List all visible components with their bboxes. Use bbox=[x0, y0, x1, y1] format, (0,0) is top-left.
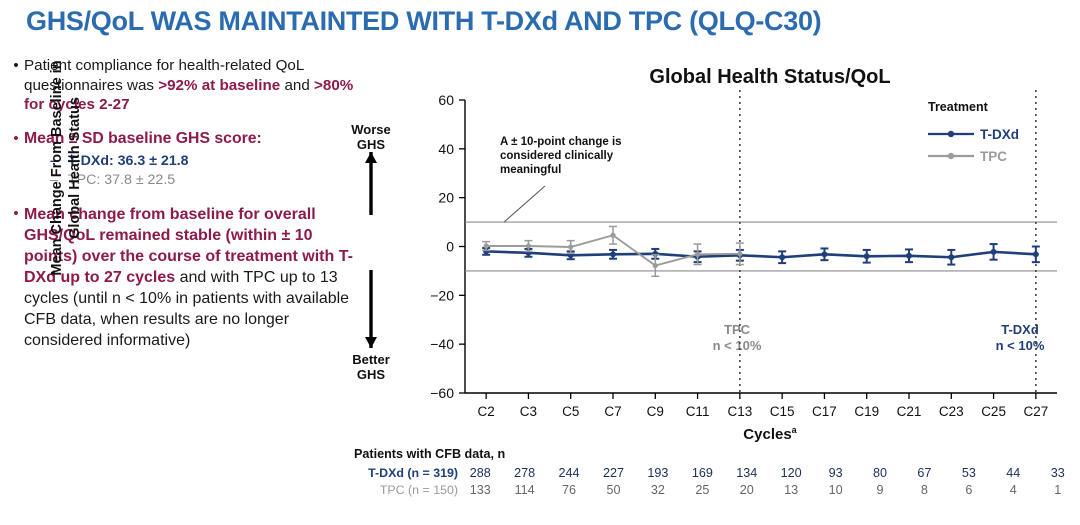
data-point bbox=[653, 263, 658, 268]
table-cell: 114 bbox=[502, 483, 546, 497]
table-row: TPC (n = 150) 1331147650322520131098641 bbox=[354, 481, 1080, 498]
table-cell: 134 bbox=[725, 466, 769, 480]
y-tick-label: 40 bbox=[438, 141, 454, 157]
data-point bbox=[948, 254, 954, 260]
table-cell: 227 bbox=[591, 466, 635, 480]
x-tick-label: C11 bbox=[686, 404, 710, 419]
x-tick-label: C25 bbox=[981, 404, 1006, 419]
data-point bbox=[610, 251, 616, 257]
data-point bbox=[779, 254, 785, 260]
table-cell: 80 bbox=[858, 466, 902, 480]
table-cell: 278 bbox=[502, 466, 546, 480]
table-cell: 193 bbox=[636, 466, 680, 480]
data-point bbox=[737, 251, 742, 256]
table-row-values-tdxd: 288278244227193169134120938067534433 bbox=[458, 466, 1080, 480]
table-cell: 76 bbox=[547, 483, 591, 497]
table-row-label-tpc: TPC (n = 150) bbox=[354, 483, 458, 497]
x-tick-label: C23 bbox=[939, 404, 964, 419]
arrow-better-ghs bbox=[365, 270, 377, 348]
table-cell: 6 bbox=[947, 483, 991, 497]
patients-cfb-table: Patients with CFB data, n T-DXd (n = 319… bbox=[354, 447, 1080, 498]
x-tick-label: C21 bbox=[897, 404, 922, 419]
table-cell: 32 bbox=[636, 483, 680, 497]
table-row-label-tdxd: T-DXd (n = 319) bbox=[354, 466, 458, 480]
y-tick-label: 60 bbox=[438, 92, 454, 108]
data-point bbox=[695, 252, 700, 257]
table-cell: 133 bbox=[458, 483, 502, 497]
y-tick-label: −40 bbox=[430, 336, 454, 352]
x-tick-label: C5 bbox=[562, 404, 579, 419]
data-point bbox=[991, 249, 997, 255]
annotation-leader-line bbox=[504, 186, 545, 222]
x-tick-label: C7 bbox=[604, 404, 621, 419]
y-tick-label: 20 bbox=[438, 190, 454, 206]
table-cell: 20 bbox=[725, 483, 769, 497]
data-point bbox=[906, 253, 912, 259]
data-point bbox=[1033, 251, 1039, 257]
table-cell: 50 bbox=[591, 483, 635, 497]
table-cell: 13 bbox=[769, 483, 813, 497]
table-cell: 1 bbox=[1035, 483, 1079, 497]
table-cell: 4 bbox=[991, 483, 1035, 497]
x-tick-label: C9 bbox=[647, 404, 664, 419]
arrow-head-icon bbox=[365, 152, 377, 163]
table-cell: 169 bbox=[680, 466, 724, 480]
data-point bbox=[526, 243, 531, 248]
table-cell: 93 bbox=[813, 466, 857, 480]
x-tick-label: C13 bbox=[727, 404, 752, 419]
y-tick-label: 0 bbox=[446, 239, 454, 255]
table-cell: 244 bbox=[547, 466, 591, 480]
table-cell: 9 bbox=[858, 483, 902, 497]
arrow-worse-ghs bbox=[365, 152, 377, 215]
table-cell: 25 bbox=[680, 483, 724, 497]
table-header: Patients with CFB data, n bbox=[354, 447, 1080, 461]
x-tick-label: C19 bbox=[854, 404, 879, 419]
table-row: T-DXd (n = 319) 288278244227193169134120… bbox=[354, 464, 1080, 481]
table-cell: 53 bbox=[947, 466, 991, 480]
x-tick-label: C3 bbox=[520, 404, 537, 419]
data-point bbox=[484, 243, 489, 248]
data-point bbox=[568, 244, 573, 249]
table-cell: 120 bbox=[769, 466, 813, 480]
data-point bbox=[821, 251, 827, 257]
arrow-head-icon bbox=[365, 337, 377, 348]
table-cell: 67 bbox=[902, 466, 946, 480]
table-cell: 10 bbox=[813, 483, 857, 497]
x-tick-label: C15 bbox=[770, 404, 795, 419]
x-tick-label: C27 bbox=[1023, 404, 1048, 419]
table-cell: 8 bbox=[902, 483, 946, 497]
y-tick-label: −20 bbox=[430, 287, 454, 303]
y-tick-label: −60 bbox=[430, 385, 454, 401]
data-point bbox=[610, 233, 615, 238]
table-cell: 288 bbox=[458, 466, 502, 480]
table-row-values-tpc: 1331147650322520131098641 bbox=[458, 483, 1080, 497]
table-cell: 44 bbox=[991, 466, 1035, 480]
x-tick-label: C17 bbox=[812, 404, 837, 419]
x-tick-label: C2 bbox=[478, 404, 495, 419]
data-point bbox=[864, 253, 870, 259]
table-cell: 33 bbox=[1035, 466, 1079, 480]
